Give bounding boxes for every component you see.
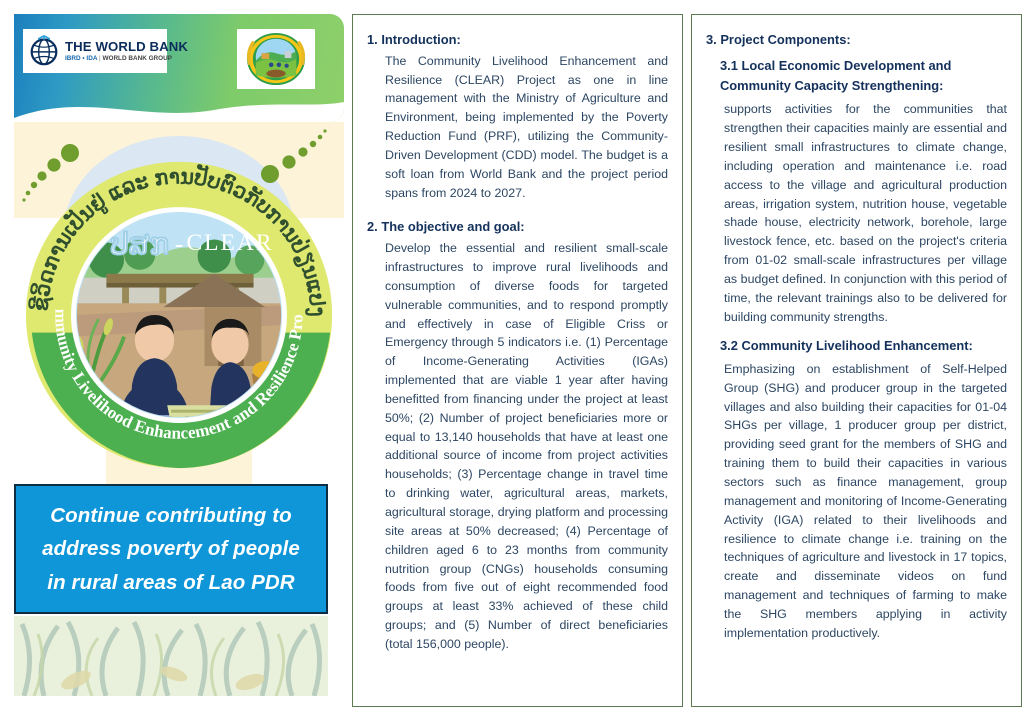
heading-objective-goal: 2. The objective and goal: [367,218,668,237]
clear-project-logo: ໂຄງການປັບປຸງຊີວິດການເປັນຢູ່ ແລະ ການປັບຕົ… [22,158,336,472]
world-bank-subtitle: IBRD • IDA | WORLD BANK GROUP [65,56,188,62]
brochure-page: THE WORLD BANK IBRD • IDA | WORLD BANK G… [0,0,1024,724]
lao-emblem-icon [241,32,311,86]
rice-field-image [14,616,328,696]
paragraph-component-3-1: supports activities for the communities … [706,100,1007,326]
svg-text:CLEAR: CLEAR [187,230,274,256]
header-wave-shape [14,88,344,122]
heading-introduction: 1. Introduction: [367,31,668,50]
right-text-column: 3. Project Components: 3.1 Local Economi… [691,14,1022,707]
tagline-line-1: Continue contributing to [50,499,292,532]
paragraph-component-3-2: Emphasizing on establishment of Self-Hel… [706,360,1007,643]
heading-project-components: 3. Project Components: [706,31,1007,50]
world-bank-logo: THE WORLD BANK IBRD • IDA | WORLD BANK G… [23,29,167,73]
tagline-line-3: in rural areas of Lao PDR [47,566,294,599]
world-bank-title: THE WORLD BANK [65,40,188,53]
heading-component-3-1-line2: Community Capacity Strengthening: [706,76,1007,95]
rice-field-illustration [14,616,328,696]
wb-group: WORLD BANK GROUP [102,55,172,62]
paragraph-objective-goal: Develop the essential and resilient smal… [367,239,668,654]
svg-text:-: - [175,229,184,258]
heading-component-3-2: 3.2 Community Livelihood Enhancement: [706,336,1007,355]
wb-ibrd: IBRD [65,55,81,62]
world-bank-wordmark: THE WORLD BANK IBRD • IDA | WORLD BANK G… [65,40,188,62]
paragraph-introduction: The Community Livelihood Enhancement and… [367,52,668,203]
tagline-banner: Continue contributing to address poverty… [14,484,328,614]
world-bank-globe-icon [27,34,61,68]
svg-text:ປສກ: ປສກ [110,228,169,261]
left-panel: THE WORLD BANK IBRD • IDA | WORLD BANK G… [0,0,344,724]
middle-text-column: 1. Introduction: The Community Livelihoo… [352,14,683,707]
lao-national-emblem [237,29,315,89]
logo-center-label: ປສກ - CLEAR [110,228,273,261]
wb-ida: IDA [86,55,97,62]
heading-component-3-1-line1: 3.1 Local Economic Development and [706,56,1007,75]
tagline-line-2: address poverty of people [42,532,300,565]
